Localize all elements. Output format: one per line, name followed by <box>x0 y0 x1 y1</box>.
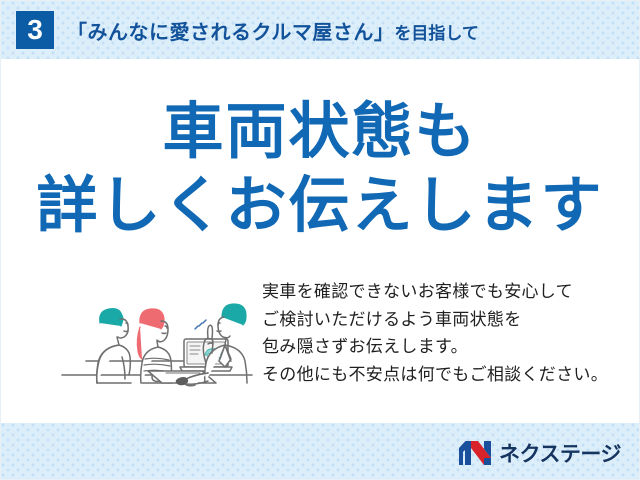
body-copy-line-3: 包み隠さずお伝えします。 <box>262 333 639 361</box>
headline: 車両状態も 詳しくお伝えします <box>1 97 639 240</box>
headline-line-1: 車両状態も <box>1 97 639 165</box>
step-number-badge: 3 <box>16 11 54 49</box>
body-copy-line-4: その他にも不安点は何でもご相談ください。 <box>262 361 639 389</box>
brand-logo: ネクステージ <box>458 438 621 468</box>
content-row: 実車を確認できないお客様でも安心して ご検討いただけるよう車両状態を 包み隠さず… <box>1 273 639 403</box>
nextage-n-logo-icon <box>458 440 492 466</box>
consultation-illustration <box>56 277 256 397</box>
header-title-main: 「みんなに愛されるクルマ屋さん」 <box>67 22 394 44</box>
brand-logo-text: ネクステージ <box>499 438 621 468</box>
advertisement-banner: 3 「みんなに愛されるクルマ屋さん」を目指して 車両状態も 詳しくお伝えします <box>0 0 640 480</box>
headline-line-2: 詳しくお伝えします <box>1 171 639 239</box>
body-copy-line-2: ご検討いただけるよう車両状態を <box>262 306 639 334</box>
header: 3 「みんなに愛されるクルマ屋さん」を目指して <box>1 1 639 59</box>
header-title-suffix: を目指して <box>394 24 479 43</box>
header-title: 「みんなに愛されるクルマ屋さん」を目指して <box>67 16 479 45</box>
body-copy: 実車を確認できないお客様でも安心して ご検討いただけるよう車両状態を 包み隠さず… <box>262 278 639 388</box>
body-copy-line-1: 実車を確認できないお客様でも安心して <box>262 278 639 306</box>
